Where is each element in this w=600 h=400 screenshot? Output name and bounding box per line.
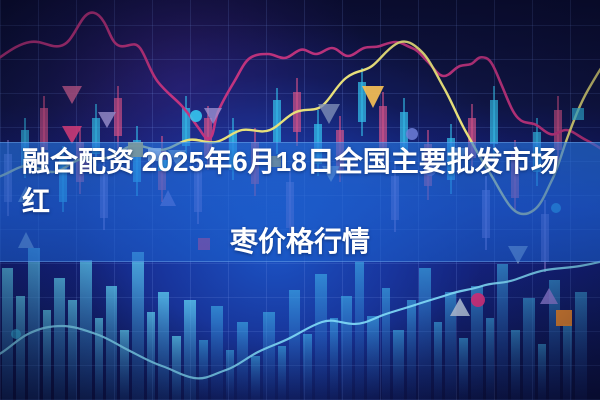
headline-line-1: 融合配资 2025年6月18日全国主要批发市场红 [20, 142, 580, 222]
banner-image: 融合配资 2025年6月18日全国主要批发市场红 枣价格行情 [0, 0, 600, 400]
headline-line-2: 枣价格行情 [20, 222, 580, 262]
page-title: 融合配资 2025年6月18日全国主要批发市场红 枣价格行情 [20, 142, 580, 262]
title-band: 融合配资 2025年6月18日全国主要批发市场红 枣价格行情 [0, 142, 600, 262]
volume-bars [2, 248, 587, 400]
